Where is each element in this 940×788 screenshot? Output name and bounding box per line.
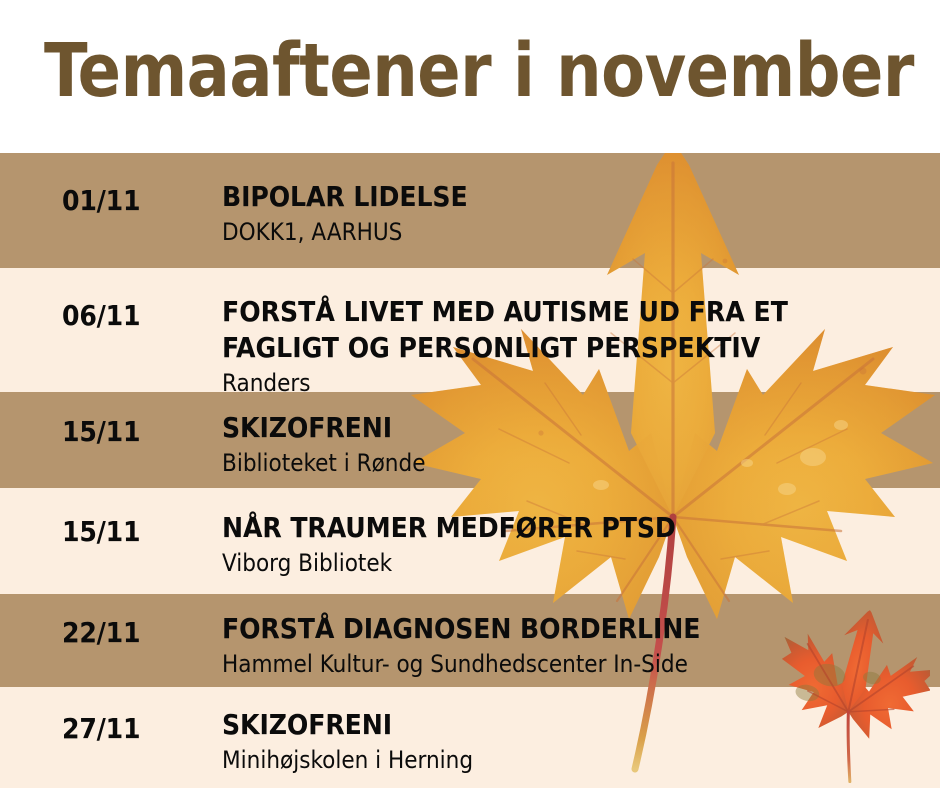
entry-body: FORSTÅ LIVET MED AUTISME UD FRA ET FAGLI…	[222, 294, 934, 398]
schedule-entry[interactable]: 22/11FORSTÅ DIAGNOSEN BORDERLINEHammel K…	[0, 594, 940, 687]
schedule-entry[interactable]: 27/11SKIZOFRENIMinihøjskolen i Herning	[0, 687, 940, 788]
entry-title: NÅR TRAUMER MEDFØRER PTSD	[222, 510, 934, 546]
entry-date: 15/11	[62, 415, 140, 448]
entry-body: SKIZOFRENIMinihøjskolen i Herning	[222, 707, 934, 775]
schedule-entry[interactable]: 15/11SKIZOFRENIBiblioteket i Rønde	[0, 392, 940, 488]
entry-title: SKIZOFRENI	[222, 707, 934, 743]
entry-date: 27/11	[62, 712, 140, 745]
schedule-entry[interactable]: 15/11NÅR TRAUMER MEDFØRER PTSDViborg Bib…	[0, 488, 940, 594]
page-title: Temaaftener i november	[44, 28, 914, 114]
schedule-list: 01/11BIPOLAR LIDELSEDOKK1, AARHUS06/11FO…	[0, 153, 940, 788]
schedule-entry[interactable]: 06/11FORSTÅ LIVET MED AUTISME UD FRA ET …	[0, 268, 940, 392]
entry-date: 22/11	[62, 616, 140, 649]
entry-body: FORSTÅ DIAGNOSEN BORDERLINEHammel Kultur…	[222, 611, 934, 679]
entry-title: FORSTÅ DIAGNOSEN BORDERLINE	[222, 611, 934, 647]
entry-title: FORSTÅ LIVET MED AUTISME UD FRA ET FAGLI…	[222, 294, 934, 366]
poster: Temaaftener i november	[0, 0, 940, 788]
entry-body: SKIZOFRENIBiblioteket i Rønde	[222, 410, 934, 478]
entry-venue: Minihøjskolen i Herning	[222, 745, 934, 775]
entry-venue: Viborg Bibliotek	[222, 548, 934, 578]
schedule-entry[interactable]: 01/11BIPOLAR LIDELSEDOKK1, AARHUS	[0, 153, 940, 268]
entry-body: NÅR TRAUMER MEDFØRER PTSDViborg Bibliote…	[222, 510, 934, 578]
entry-date: 06/11	[62, 299, 140, 332]
entry-date: 15/11	[62, 515, 140, 548]
title-bar: Temaaftener i november	[0, 0, 940, 153]
entry-body: BIPOLAR LIDELSEDOKK1, AARHUS	[222, 179, 934, 247]
entry-title: SKIZOFRENI	[222, 410, 934, 446]
entry-title: BIPOLAR LIDELSE	[222, 179, 934, 215]
entry-venue: Biblioteket i Rønde	[222, 448, 934, 478]
entry-venue: Hammel Kultur- og Sundhedscenter In-Side	[222, 649, 934, 679]
entry-venue: DOKK1, AARHUS	[222, 217, 934, 247]
entry-date: 01/11	[62, 184, 140, 217]
